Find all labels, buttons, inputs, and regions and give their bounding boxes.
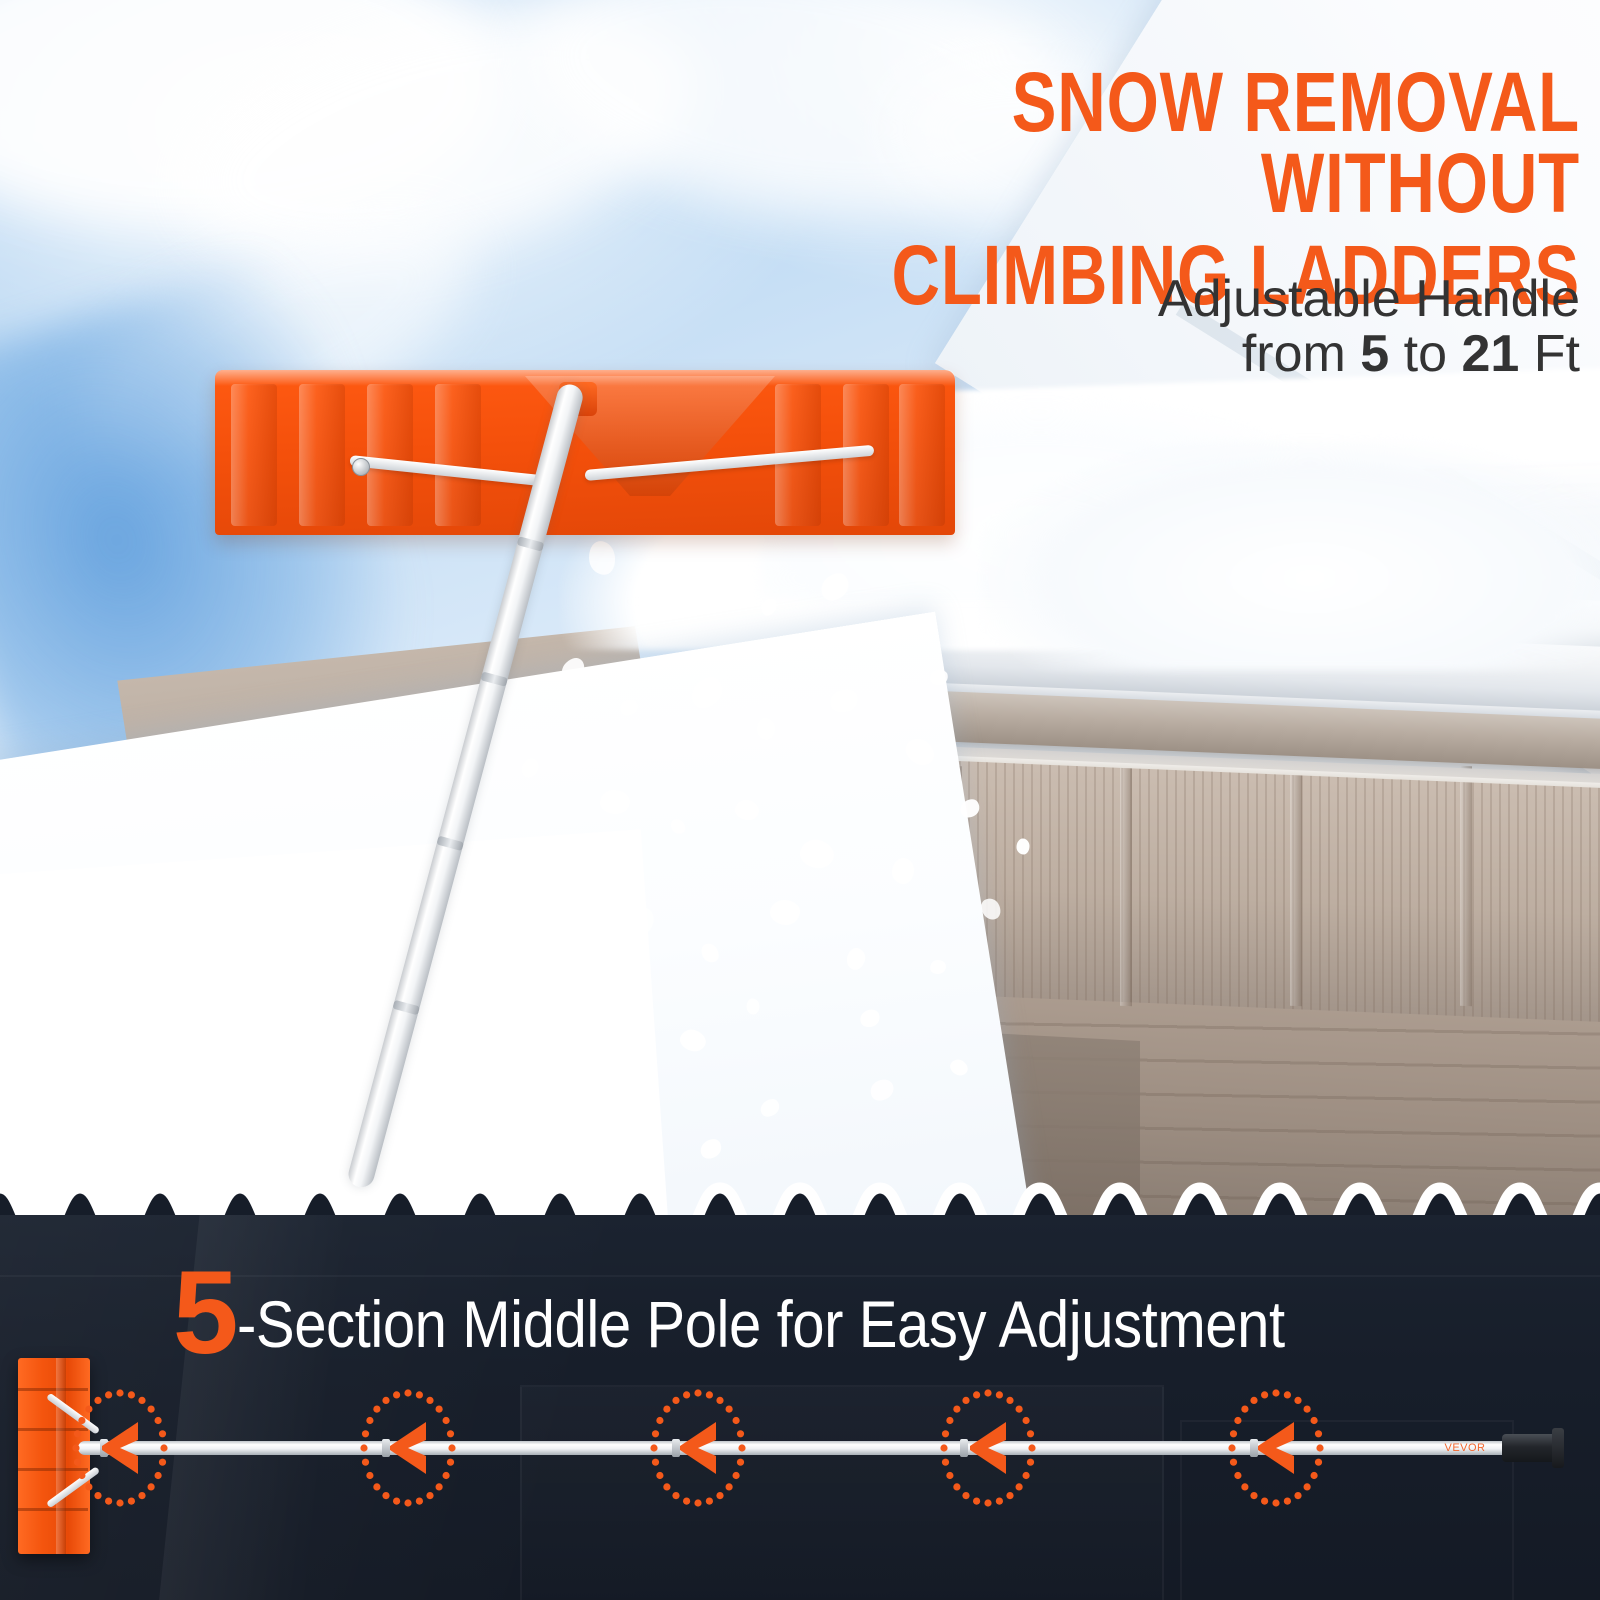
subheading-line-2: from 5 to 21 Ft [700, 327, 1580, 382]
blade-rib [299, 384, 345, 526]
soffit-rib [1120, 766, 1132, 1007]
chevron-left-icon [966, 1420, 1010, 1476]
diagram-end-grip [1502, 1434, 1558, 1462]
soffit-rib [1290, 766, 1302, 1007]
adjustment-marker [940, 1389, 1036, 1507]
subheading-unit: Ft [1519, 325, 1580, 383]
handle-max-value: 21 [1461, 325, 1519, 383]
diagram-blade-edge [56, 1358, 66, 1554]
pole-joint [392, 1000, 419, 1015]
adjustment-marker [650, 1389, 746, 1507]
brand-label: VEVOR [1430, 1440, 1500, 1455]
subheading-prefix: from [1242, 325, 1360, 383]
soffit-rib [1460, 766, 1472, 1007]
subheading-line-1: Adjustable Handle [700, 272, 1580, 327]
adjustment-marker [1228, 1389, 1324, 1507]
blade-rib [435, 384, 481, 526]
blade-rib [367, 384, 413, 526]
chevron-left-icon [386, 1420, 430, 1476]
handle-min-value: 5 [1360, 325, 1389, 383]
pole-joint [436, 836, 463, 851]
blade-rib [231, 384, 277, 526]
pole-joint [517, 536, 544, 551]
product-marketing-poster: SNOW REMOVAL WITHOUT CLIMBING LADDERS Ad… [0, 0, 1600, 1600]
adjustment-marker [72, 1389, 168, 1507]
diagram-end-cap [1552, 1428, 1564, 1468]
blade-rib [899, 384, 945, 526]
adjustment-marker [360, 1389, 456, 1507]
chevron-left-icon [98, 1420, 142, 1476]
subheading-middle: to [1389, 325, 1461, 383]
chevron-left-icon [1254, 1420, 1298, 1476]
pole-joint [480, 671, 507, 686]
diagram-blade-rib [18, 1508, 88, 1511]
strut-bolt [352, 458, 370, 476]
pole-diagram: VEVOR [0, 1340, 1600, 1570]
chevron-left-icon [676, 1420, 720, 1476]
subheading-block: Adjustable Handle from 5 to 21 Ft [700, 272, 1580, 382]
headline-line-1: SNOW REMOVAL WITHOUT [764, 62, 1580, 223]
snow-chunk [1016, 838, 1029, 854]
snow-pile [980, 440, 1600, 670]
